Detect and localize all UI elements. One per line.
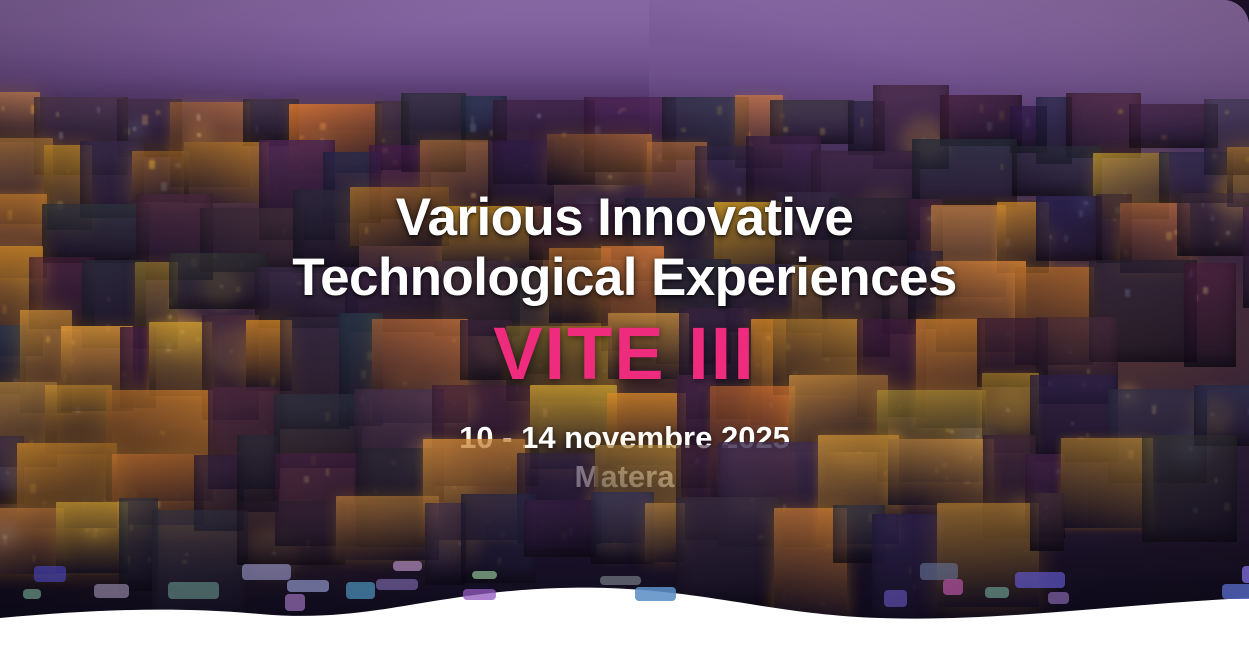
hero-title-line-1: Various Innovative — [40, 188, 1209, 248]
hero-title: Various Innovative Technological Experie… — [0, 188, 1249, 309]
hero-acronym: VITE III — [0, 315, 1249, 393]
hero-title-line-2: Technological Experiences — [40, 248, 1209, 308]
hero-banner: Various Innovative Technological Experie… — [0, 0, 1249, 650]
